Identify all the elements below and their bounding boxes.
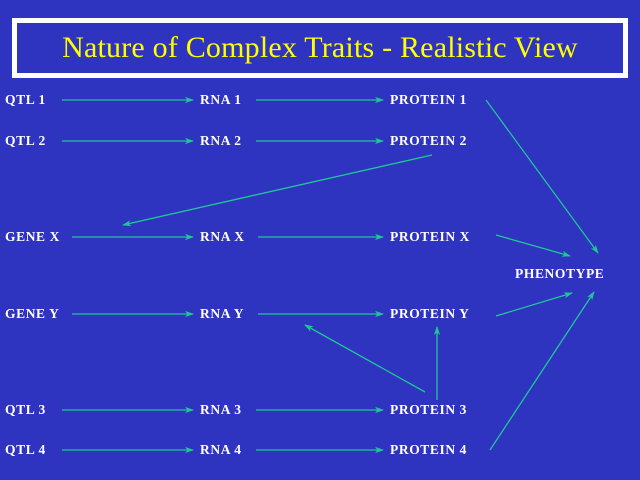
node-label-qtl3: QTL 3 — [5, 402, 46, 418]
node-label-rna2: RNA 2 — [200, 133, 242, 149]
node-label-rna1: RNA 1 — [200, 92, 242, 108]
node-label-geney: GENE Y — [5, 306, 59, 322]
page-title: Nature of Complex Traits - Realistic Vie… — [62, 31, 578, 65]
node-label-protein2: PROTEIN 2 — [390, 133, 467, 149]
arrow-proteinx-phenotype — [496, 235, 570, 256]
arrow-protein1-phenotype — [486, 100, 598, 253]
node-label-rna3: RNA 3 — [200, 402, 242, 418]
node-label-rnay: RNA Y — [200, 306, 244, 322]
arrow-protein2-genex — [123, 155, 432, 225]
node-label-qtl1: QTL 1 — [5, 92, 46, 108]
node-label-proteinx: PROTEIN X — [390, 229, 470, 245]
slide-canvas: Nature of Complex Traits - Realistic Vie… — [0, 0, 640, 480]
node-label-protein3: PROTEIN 3 — [390, 402, 467, 418]
node-label-phenotype: PHENOTYPE — [515, 266, 604, 282]
arrow-proteiny-phenotype — [496, 293, 572, 316]
node-label-qtl4: QTL 4 — [5, 442, 46, 458]
arrow-protein4-phenotype — [490, 292, 594, 450]
node-label-qtl2: QTL 2 — [5, 133, 46, 149]
node-label-rna4: RNA 4 — [200, 442, 242, 458]
node-label-genex: GENE X — [5, 229, 60, 245]
node-label-protein4: PROTEIN 4 — [390, 442, 467, 458]
node-label-rnax: RNA X — [200, 229, 245, 245]
title-box: Nature of Complex Traits - Realistic Vie… — [12, 18, 628, 78]
node-label-protein1: PROTEIN 1 — [390, 92, 467, 108]
arrow-protein3-rnay — [305, 325, 425, 392]
node-label-proteiny: PROTEIN Y — [390, 306, 470, 322]
